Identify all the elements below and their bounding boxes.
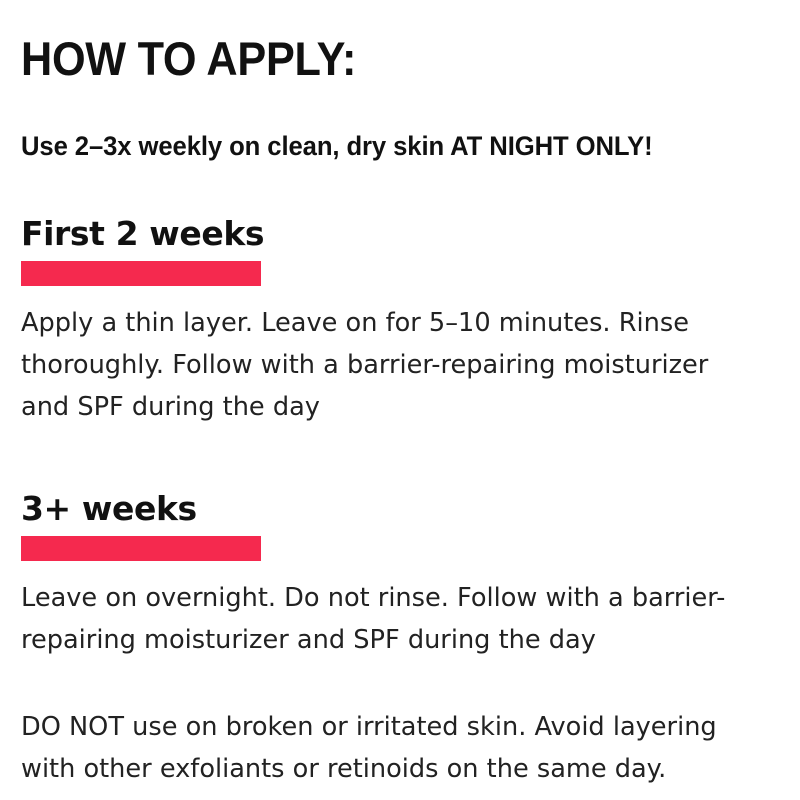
phase-heading-first-2-weeks: First 2 weeks (21, 215, 779, 253)
accent-rule-first-2-weeks (21, 261, 261, 286)
accent-rule-3-plus-weeks (21, 536, 261, 561)
how-to-apply-card: HOW TO APPLY: Use 2–3x weekly on clean, … (0, 0, 800, 800)
page-title: HOW TO APPLY: (21, 0, 718, 85)
phase-body-first-2-weeks: Apply a thin layer. Leave on for 5–10 mi… (21, 286, 752, 428)
phase-heading-3-plus-weeks: 3+ weeks (21, 490, 779, 528)
phase-body-3-plus-weeks: Leave on overnight. Do not rinse. Follow… (21, 561, 752, 661)
phase-section-first-2-weeks: First 2 weeks Apply a thin layer. Leave … (21, 162, 779, 428)
warning-text: DO NOT use on broken or irritated skin. … (21, 661, 752, 790)
frequency-note: Use 2–3x weekly on clean, dry skin AT NI… (21, 85, 741, 162)
phase-section-3-plus-weeks: 3+ weeks Leave on overnight. Do not rins… (21, 428, 779, 661)
